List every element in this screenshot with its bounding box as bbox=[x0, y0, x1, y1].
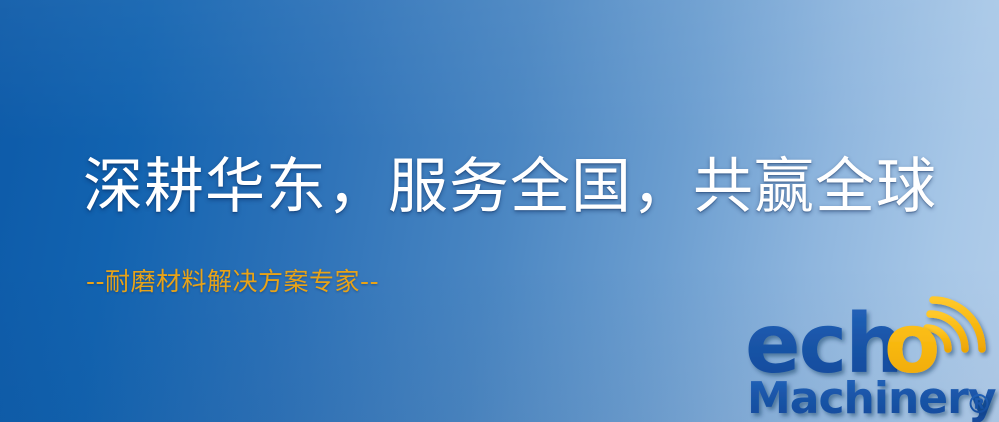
logo-subword-machinery: Machinery bbox=[747, 373, 996, 422]
logo-registered-trademark: ® bbox=[966, 390, 992, 420]
echo-machinery-logo: ech o Machinery ® bbox=[745, 294, 999, 422]
banner-headline: 深耕华东，服务全国，共赢全球 bbox=[83, 152, 943, 222]
promotional-banner: 深耕华东，服务全国，共赢全球 --耐磨材料解决方案专家-- bbox=[0, 0, 999, 422]
banner-subtitle: --耐磨材料解决方案专家-- bbox=[86, 266, 379, 298]
